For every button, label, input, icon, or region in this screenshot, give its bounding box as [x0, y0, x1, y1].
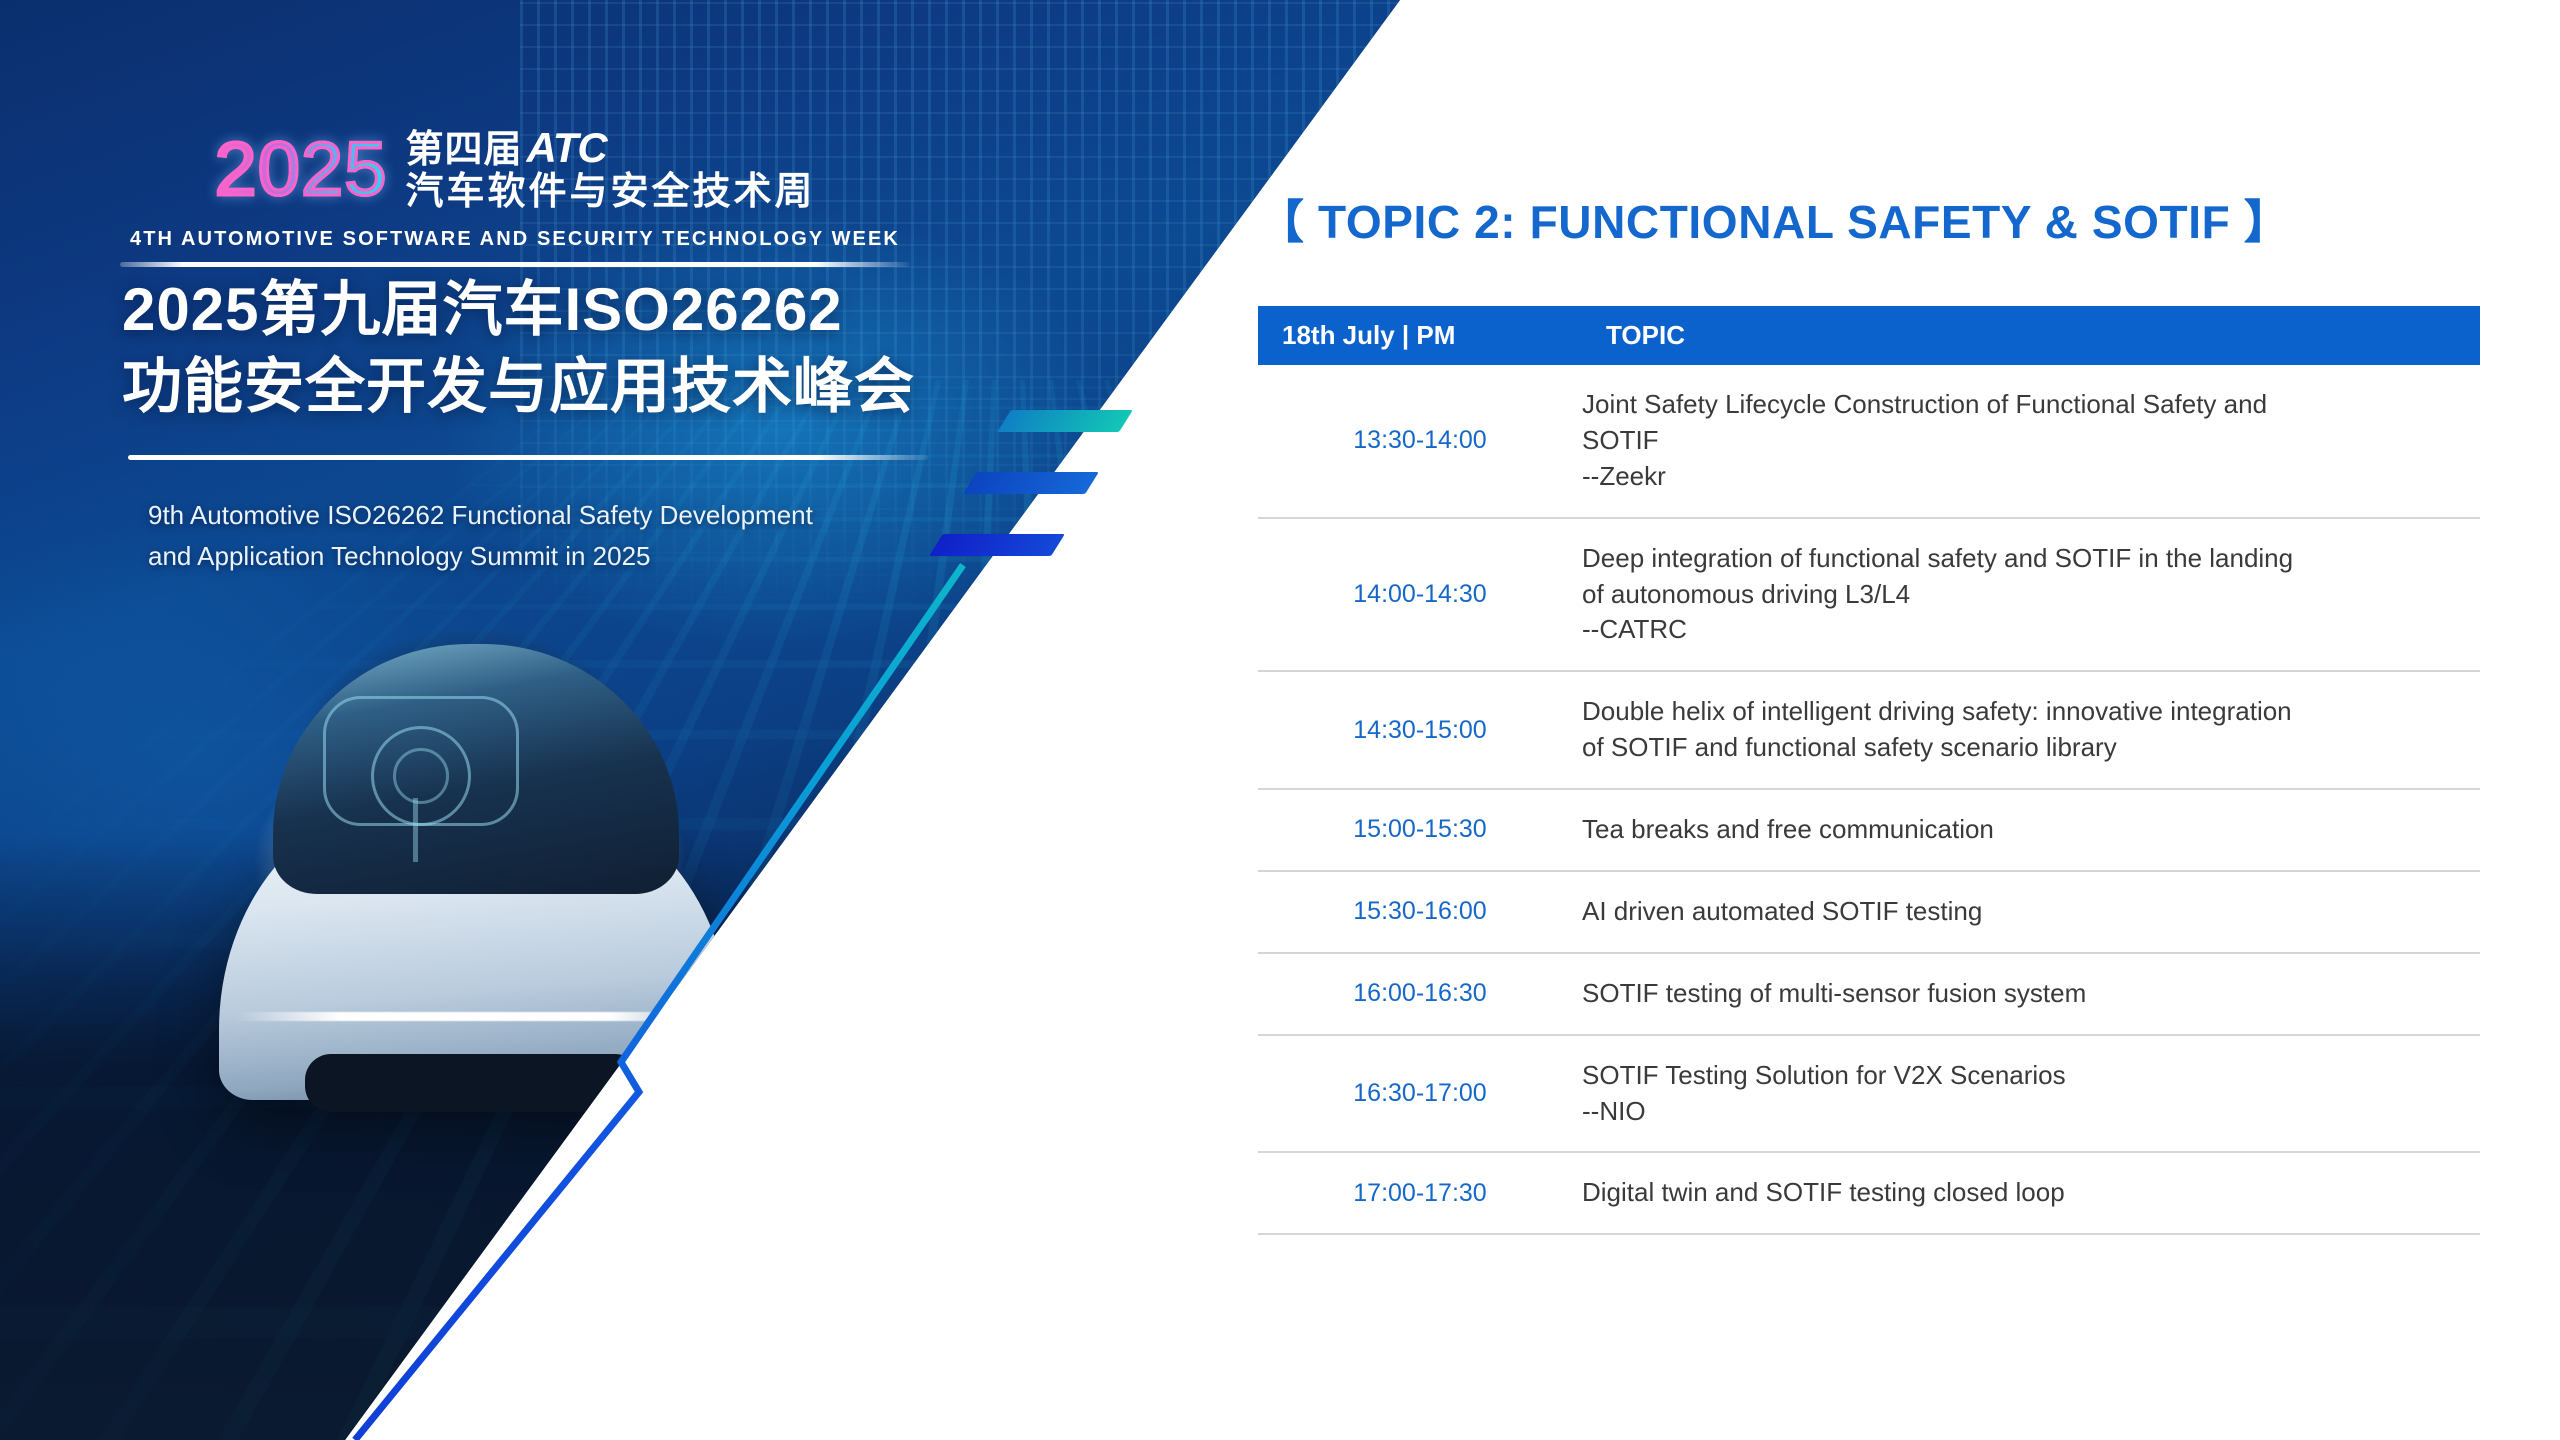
session-topic: Tea breaks and free communication: [1582, 789, 2480, 871]
session-time: 14:30-15:00: [1258, 671, 1582, 789]
session-time: 16:30-17:00: [1258, 1035, 1582, 1153]
car-grille: [305, 1054, 641, 1112]
session-topic: Double helix of intelligent driving safe…: [1582, 671, 2480, 789]
car-light-strip: [235, 1012, 715, 1021]
chevron-decoration: [930, 400, 1160, 600]
logo-chinese-wrap: 第四届ATC 汽车软件与安全技术周: [406, 126, 816, 215]
car-hud-inner-circle-icon: [393, 748, 449, 804]
logo-edition-line: 第四届ATC: [406, 126, 816, 171]
chevron-bar-teal: [997, 410, 1133, 432]
concept-car-illustration: [195, 630, 755, 1110]
table-row[interactable]: 16:00-16:30 SOTIF testing of multi-senso…: [1258, 953, 2480, 1035]
title-divider: [128, 455, 928, 460]
event-title-cn: 2025第九届汽车ISO26262 功能安全开发与应用技术峰会: [122, 272, 942, 426]
table-row[interactable]: 15:00-15:30 Tea breaks and free communic…: [1258, 789, 2480, 871]
chevron-bar-blue: [963, 472, 1099, 494]
schedule-table: 18th July | PM TOPIC 13:30-14:00 Joint S…: [1258, 306, 2480, 1235]
event-title-en: 9th Automotive ISO26262 Functional Safet…: [148, 495, 938, 577]
session-topic: AI driven automated SOTIF testing: [1582, 871, 2480, 953]
logo-divider: [120, 262, 910, 267]
session-time: 15:00-15:30: [1258, 789, 1582, 871]
content-panel: 【 TOPIC 2: FUNCTIONAL SAFETY & SOTIF 】 1…: [1258, 0, 2498, 1235]
session-time: 16:00-16:30: [1258, 953, 1582, 1035]
table-header-row: 18th July | PM TOPIC: [1258, 306, 2480, 365]
session-topic: SOTIF testing of multi-sensor fusion sys…: [1582, 953, 2480, 1035]
car-hud-stem: [413, 798, 418, 862]
table-row[interactable]: 16:30-17:00 SOTIF Testing Solution for V…: [1258, 1035, 2480, 1153]
session-topic: Digital twin and SOTIF testing closed lo…: [1582, 1152, 2480, 1234]
session-topic: Deep integration of functional safety an…: [1582, 518, 2480, 672]
event-logo: 2025 第四届ATC 汽车软件与安全技术周 4TH AUTOMOTIVE SO…: [120, 118, 910, 267]
table-row[interactable]: 14:00-14:30 Deep integration of function…: [1258, 518, 2480, 672]
session-time: 14:00-14:30: [1258, 518, 1582, 672]
session-time: 13:30-14:00: [1258, 365, 1582, 518]
logo-year: 2025: [214, 132, 387, 208]
logo-subtitle-en: 4TH AUTOMOTIVE SOFTWARE AND SECURITY TEC…: [120, 228, 910, 251]
chevron-bar-deep-blue: [929, 534, 1065, 556]
table-row[interactable]: 17:00-17:30 Digital twin and SOTIF testi…: [1258, 1152, 2480, 1234]
session-topic: Joint Safety Lifecycle Construction of F…: [1582, 365, 2480, 518]
table-row[interactable]: 15:30-16:00 AI driven automated SOTIF te…: [1258, 871, 2480, 953]
logo-edition-text: 第四届: [406, 129, 523, 171]
page-title: 【 TOPIC 2: FUNCTIONAL SAFETY & SOTIF 】: [1258, 186, 2498, 252]
column-header-topic: TOPIC: [1582, 306, 2480, 365]
hero-banner: 2025 第四届ATC 汽车软件与安全技术周 4TH AUTOMOTIVE SO…: [0, 0, 1420, 1440]
logo-row: 2025 第四届ATC 汽车软件与安全技术周: [120, 118, 910, 222]
logo-brand-atc: ATC: [523, 124, 607, 171]
logo-subtitle-cn: 汽车软件与安全技术周: [406, 171, 816, 215]
session-time: 17:00-17:30: [1258, 1152, 1582, 1234]
table-row[interactable]: 13:30-14:00 Joint Safety Lifecycle Const…: [1258, 365, 2480, 518]
session-time: 15:30-16:00: [1258, 871, 1582, 953]
column-header-time: 18th July | PM: [1258, 306, 1582, 365]
schedule-table-head: 18th July | PM TOPIC: [1258, 306, 2480, 365]
table-row[interactable]: 14:30-15:00 Double helix of intelligent …: [1258, 671, 2480, 789]
schedule-table-body: 13:30-14:00 Joint Safety Lifecycle Const…: [1258, 365, 2480, 1234]
session-topic: SOTIF Testing Solution for V2X Scenarios…: [1582, 1035, 2480, 1153]
